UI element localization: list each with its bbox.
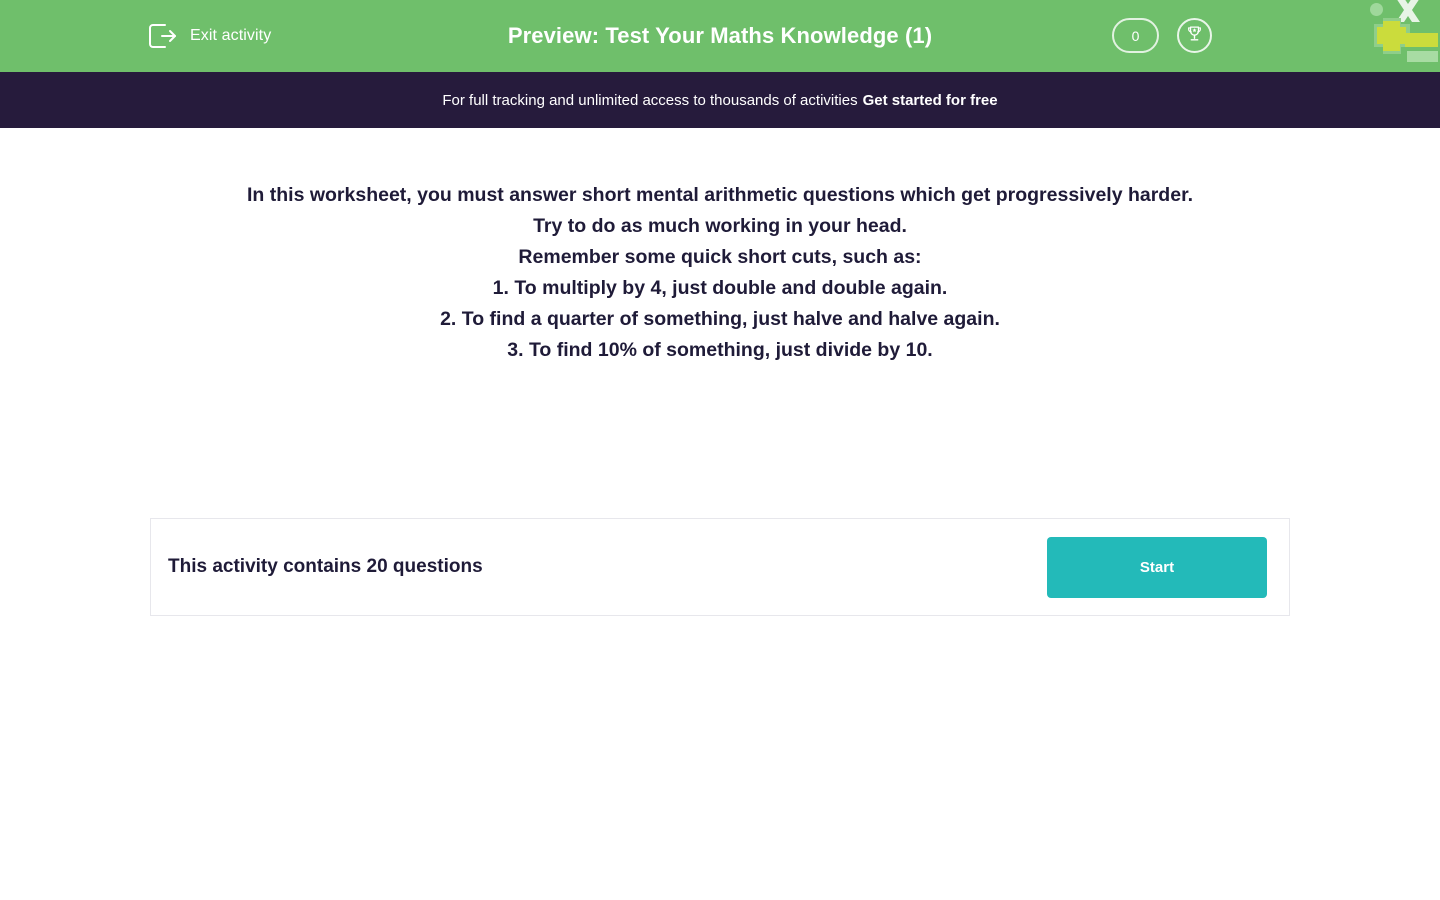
score-badge[interactable]: 0 xyxy=(1112,18,1159,53)
page-body: In this worksheet, you must answer short… xyxy=(0,128,1440,787)
promo-text: For full tracking and unlimited access t… xyxy=(442,92,857,109)
instruction-line: In this worksheet, you must answer short… xyxy=(130,180,1310,211)
exit-activity-label: Exit activity xyxy=(190,27,271,45)
trophy-icon xyxy=(1185,24,1204,48)
exit-logout-icon xyxy=(148,23,178,49)
exit-activity-button[interactable]: Exit activity xyxy=(148,0,271,72)
decor-plus-pale-icon xyxy=(1374,24,1410,47)
app-header: Exit activity Preview: Test Your Maths K… xyxy=(0,0,1440,72)
decor-x-icon xyxy=(1390,0,1426,26)
decor-rect-yellow-icon xyxy=(1405,33,1438,47)
instruction-line: Remember some quick short cuts, such as: xyxy=(130,242,1310,273)
instruction-line: Try to do as much working in your head. xyxy=(130,211,1310,242)
trophy-button[interactable] xyxy=(1177,18,1212,53)
start-button[interactable]: Start xyxy=(1047,537,1267,598)
header-actions: 0 xyxy=(1112,18,1212,53)
decor-rect-pale-icon xyxy=(1407,51,1438,62)
decor-plus-yellow-icon xyxy=(1377,27,1406,44)
instruction-line: 1. To multiply by 4, just double and dou… xyxy=(130,273,1310,304)
decor-plus-pale-vertical-icon xyxy=(1383,18,1401,54)
decor-plus-yellow-vertical-icon xyxy=(1383,21,1400,51)
instruction-line: 2. To find a quarter of something, just … xyxy=(130,304,1310,335)
worksheet-instructions: In this worksheet, you must answer short… xyxy=(130,128,1310,366)
question-count-label: This activity contains 20 questions xyxy=(168,556,483,578)
decor-circle-icon xyxy=(1370,3,1383,16)
activity-summary-card: This activity contains 20 questions Star… xyxy=(150,518,1290,616)
score-value: 0 xyxy=(1132,28,1140,44)
instruction-line: 3. To find 10% of something, just divide… xyxy=(130,335,1310,366)
get-started-link[interactable]: Get started for free xyxy=(863,92,998,109)
promo-banner: For full tracking and unlimited access t… xyxy=(0,72,1440,128)
